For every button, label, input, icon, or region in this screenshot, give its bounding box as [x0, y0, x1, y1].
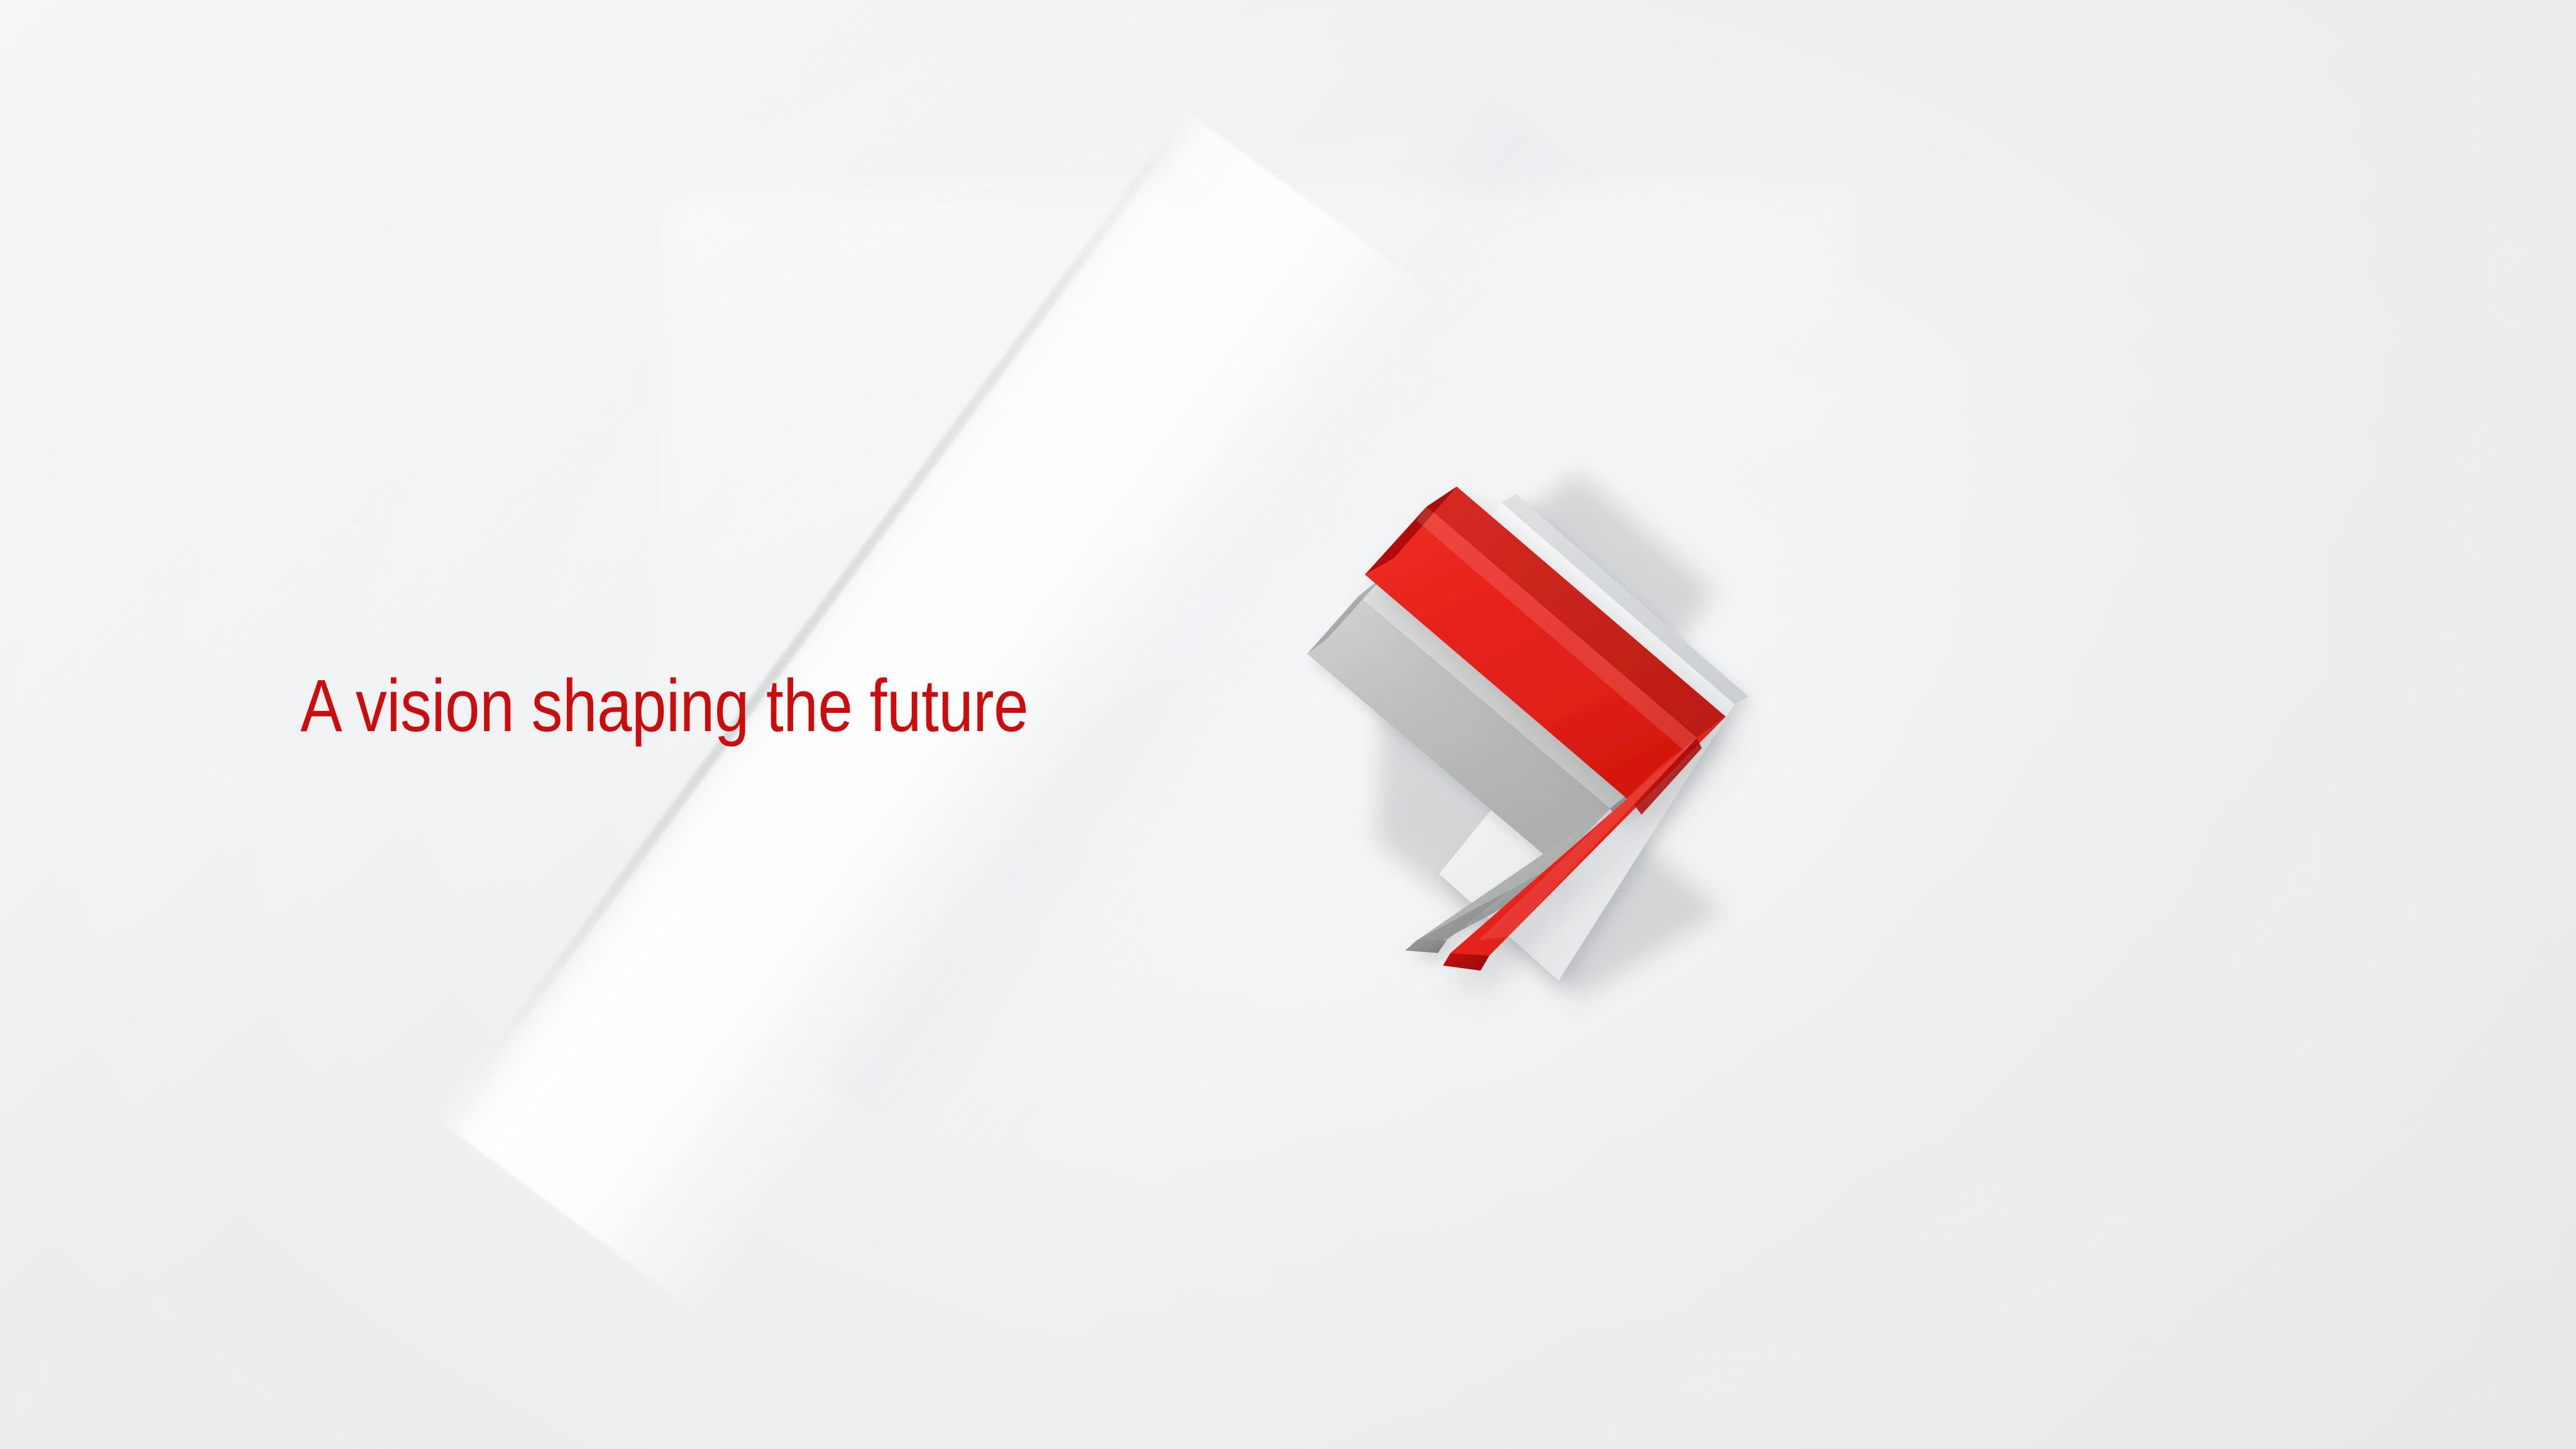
page-title: A vision shaping the future	[300, 669, 1028, 743]
slide-canvas: A vision shaping the future	[0, 0, 2576, 1449]
ribbon-leading-edge	[468, 119, 1187, 1086]
red-chevron-tail-end	[1443, 953, 1489, 971]
logo-mark	[1282, 434, 1848, 1012]
